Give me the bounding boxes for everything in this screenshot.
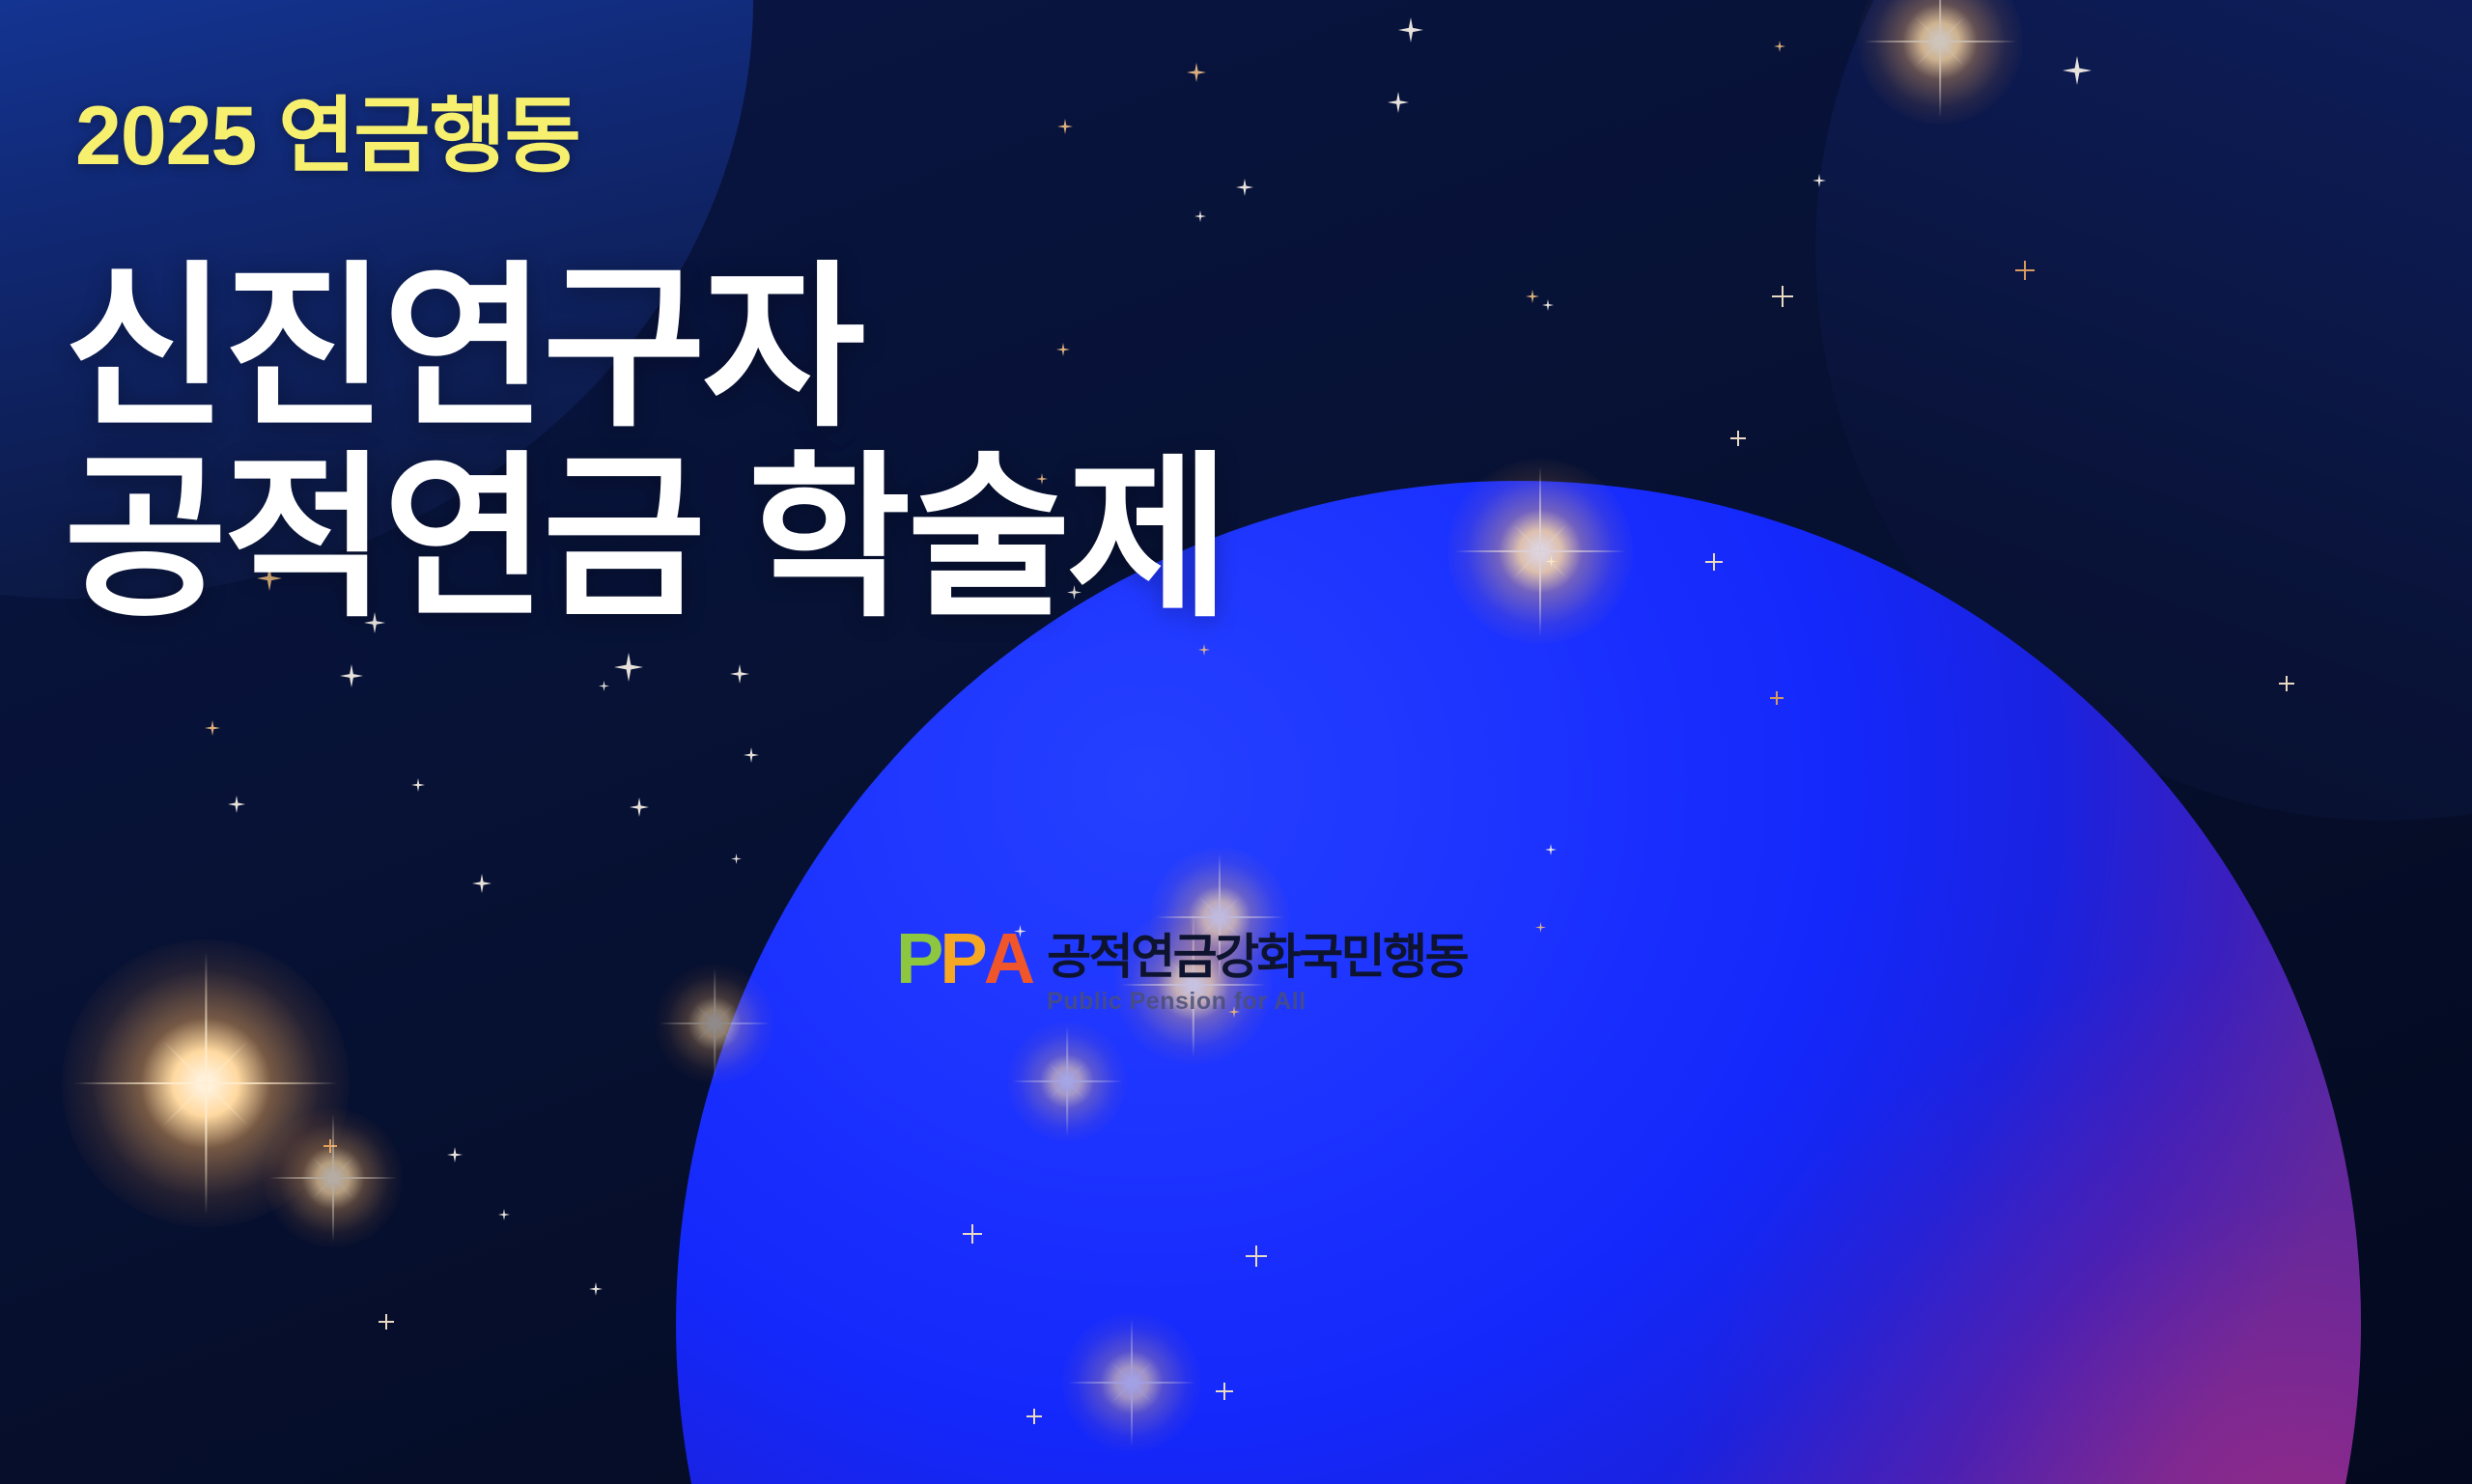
ppa-letter-3: A: [984, 927, 1031, 990]
ppa-letter-2: P: [940, 927, 983, 990]
ppa-logo: PPA 공적연금강화국민행동 Public Pension for All: [896, 927, 1467, 1014]
organization-tagline-en: Public Pension for All: [1047, 990, 1467, 1014]
ppa-logo-mark: PPA: [896, 927, 1031, 990]
page-title: 신진연구자 공적연금 학술제: [64, 253, 1754, 633]
title-line-2: 공적연금 학술제: [64, 443, 1754, 633]
title-line-1: 신진연구자: [64, 253, 1754, 443]
poster-kicker: 2025 연금행동: [75, 95, 580, 178]
ppa-logo-text: 공적연금강화국민행동 Public Pension for All: [1047, 927, 1467, 1014]
organization-name-ko: 공적연금강화국민행동: [1047, 933, 1467, 981]
poster-canvas: 2025 연금행동 신진연구자 공적연금 학술제 PPA 공적연금강화국민행동 …: [0, 0, 2472, 1484]
ppa-letter-1: P: [896, 927, 940, 990]
